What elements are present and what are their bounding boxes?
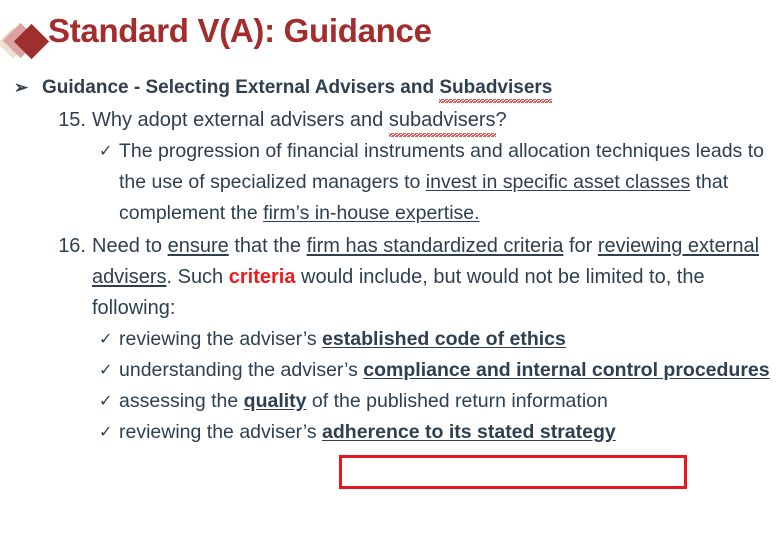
page-title: Standard V(A): Guidance (48, 12, 432, 50)
list-item-text: reviewing the adviser’s (119, 421, 322, 443)
list-item-number: 15. (52, 105, 86, 136)
emphasized-text: ensure (168, 235, 229, 257)
emphasized-text: adherence to its stated strategy (322, 421, 616, 443)
list-item: 15.Why adopt external advisers and subad… (0, 105, 777, 136)
section-heading-text: Guidance - Selecting External Advisers a… (42, 77, 439, 98)
slide-canvas: { "slide": { "title": "Standard V(A): Gu… (0, 0, 777, 543)
check-bullet-icon: ✓ (99, 386, 112, 417)
list-item-text: that the (229, 235, 307, 257)
highlight-box (339, 455, 687, 489)
emphasized-text: firm has standardized criteria (307, 235, 564, 257)
emphasized-text: firm’s in-house expertise. (263, 202, 479, 224)
emphasized-text: established code of ethics (322, 328, 566, 350)
list-item-number: 16. (52, 231, 86, 262)
highlighted-keyword: criteria (229, 266, 296, 288)
list-item-text: understanding the adviser’s (119, 359, 363, 381)
list-item-text: reviewing the adviser’s (119, 328, 322, 350)
list-item: ✓reviewing the adviser’s adherence to it… (0, 417, 777, 448)
list-item-text: Why adopt external advisers and (92, 109, 389, 131)
emphasized-text: invest in specific asset classes (426, 171, 690, 193)
misspelled-word: Subadvisers (439, 74, 552, 102)
emphasized-text: compliance and internal control procedur… (363, 359, 769, 381)
list-item-text: of the published return information (307, 390, 608, 412)
list-item: ✓The progression of financial instrument… (0, 136, 777, 229)
slide-header: Standard V(A): Guidance (0, 12, 777, 64)
misspelled-word: subadvisers (389, 105, 496, 136)
slide-body: ➢Guidance - Selecting External Advisers … (0, 74, 777, 448)
list-item-text: . Such (166, 266, 228, 288)
list-item: ✓assessing the quality of the published … (0, 386, 777, 417)
check-bullet-icon: ✓ (99, 417, 112, 448)
diamond-logo (2, 20, 50, 66)
list-item: ✓understanding the adviser’s compliance … (0, 355, 777, 386)
list-item-text: Need to (92, 235, 168, 257)
section-heading: ➢Guidance - Selecting External Advisers … (0, 74, 777, 102)
check-bullet-icon: ✓ (99, 355, 112, 386)
check-bullet-icon: ✓ (99, 324, 112, 355)
check-bullet-icon: ✓ (99, 136, 112, 167)
list-item-text: ? (496, 109, 507, 131)
arrow-bullet-icon: ➢ (14, 74, 28, 102)
list-item: 16.Need to ensure that the firm has stan… (0, 231, 777, 324)
list-item: ✓reviewing the adviser’s established cod… (0, 324, 777, 355)
list-item-text: for (563, 235, 597, 257)
emphasized-text: quality (244, 390, 307, 412)
list-item-text: assessing the (119, 390, 244, 412)
